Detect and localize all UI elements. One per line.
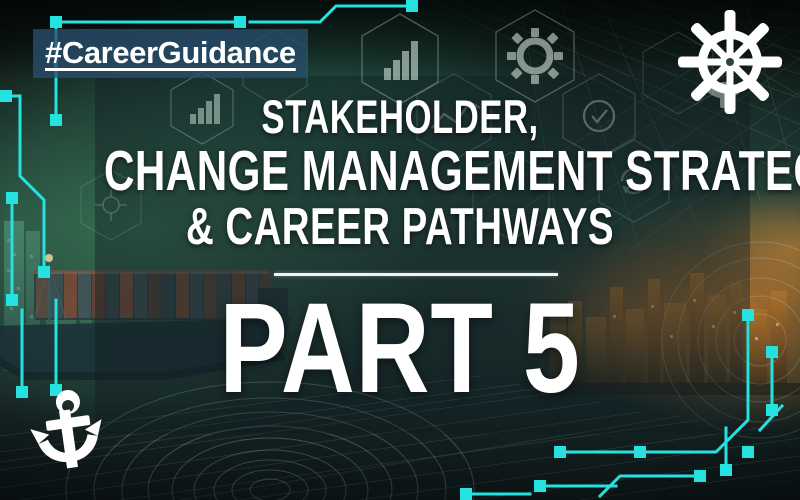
hex-badge-refresh (596, 138, 672, 224)
title-divider (274, 273, 558, 276)
line-graph-icon (432, 102, 480, 128)
hashtag-badge[interactable]: #CareerGuidance (33, 29, 308, 78)
node-icon (95, 189, 127, 221)
hex-badge-decorative-c (470, 150, 552, 242)
gear-icon (520, 41, 550, 71)
check-circle-icon (584, 101, 614, 131)
anchor-icon (20, 386, 116, 482)
gear-teeth (507, 28, 563, 84)
ship-wheel-icon (674, 6, 786, 118)
bar-chart-icon (384, 41, 418, 80)
banner-canvas: #CareerGuidance STAKEHOLDER, CHANGE MANA… (0, 0, 800, 500)
hex-badge-line-graph (414, 72, 494, 162)
hex-badge-node (78, 168, 144, 242)
part-label: PART 5 (80, 289, 720, 409)
refresh-icon (622, 168, 646, 194)
hashtag-label: #CareerGuidance (45, 35, 296, 70)
bar-chart-icon (190, 94, 220, 124)
part-number-block: PART 5 (0, 289, 800, 409)
hex-badge-bar-chart-small (168, 70, 236, 146)
